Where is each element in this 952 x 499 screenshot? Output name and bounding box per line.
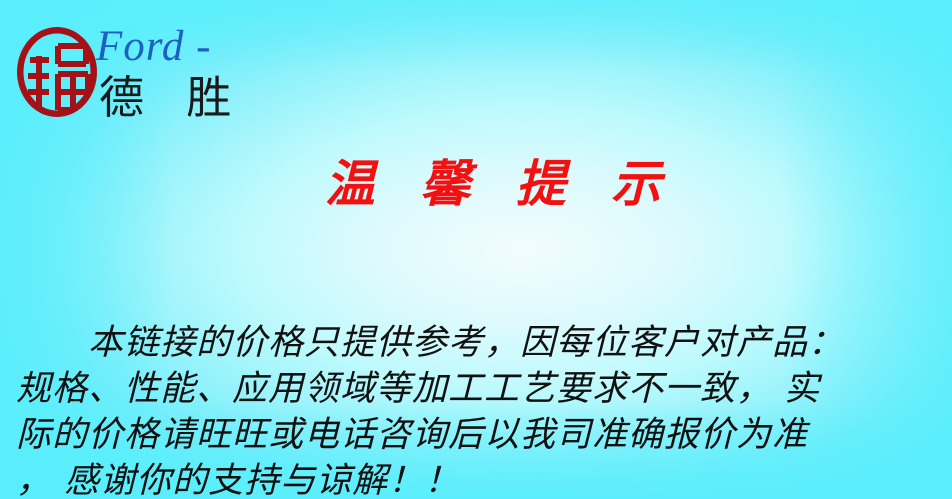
fu-seal-icon bbox=[16, 26, 98, 118]
company-logo: Ford - 德 胜 bbox=[14, 22, 244, 137]
notice-body: 本链接的价格只提供参考，因每位客户对产品： 规格、性能、应用领域等加工工艺要求不… bbox=[16, 320, 936, 499]
notice-line: 本链接的价格只提供参考，因每位客户对产品： bbox=[16, 320, 936, 366]
notice-line: 规格、性能、应用领域等加工工艺要求不一致， 实 bbox=[16, 366, 936, 412]
notice-line: ， 感谢你的支持与谅解！！ bbox=[16, 458, 936, 499]
brand-chinese-text: 德 胜 bbox=[99, 72, 245, 124]
promo-banner: Ford - 德 胜 温 馨 提 示 本链接的价格只提供参考，因每位客户对产品：… bbox=[0, 0, 952, 499]
brand-latin-text: Ford - bbox=[96, 22, 211, 72]
page-title: 温 馨 提 示 bbox=[300, 153, 700, 215]
notice-line: 际的价格请旺旺或电话咨询后以我司准确报价为准 bbox=[16, 412, 936, 458]
